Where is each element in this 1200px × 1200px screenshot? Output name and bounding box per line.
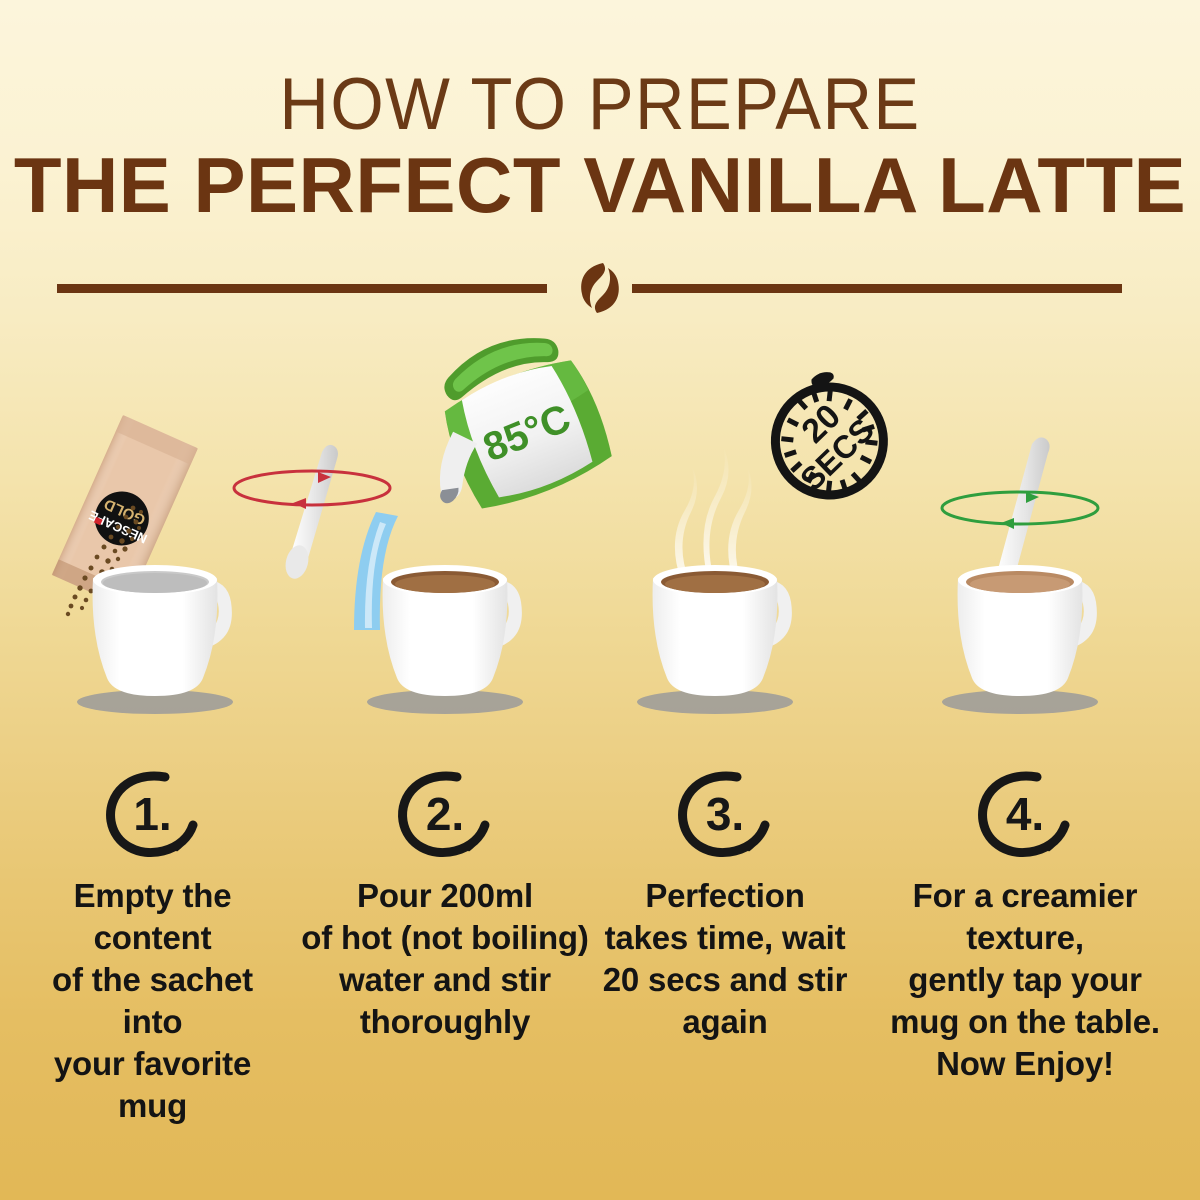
step-3: 20 SECS bbox=[585, 0, 865, 1200]
mug-with-coffee bbox=[653, 565, 792, 696]
mug-with-creamy-coffee bbox=[958, 565, 1097, 696]
step-4-number: 4. bbox=[860, 787, 1190, 841]
step-3-number: 3. bbox=[585, 787, 865, 841]
step-2: 85°C bbox=[300, 0, 590, 1200]
step-4-caption: For a creamier texture, gently tap your … bbox=[860, 875, 1190, 1085]
step-3-number-badge: 3. bbox=[585, 765, 865, 860]
step-1-caption: Empty the content of the sachet into you… bbox=[5, 875, 300, 1127]
steam bbox=[675, 446, 752, 580]
step-4-illustration bbox=[860, 380, 1190, 750]
step-1-illustration: NESCAFE GOLD bbox=[5, 380, 300, 750]
step-1-number: 1. bbox=[5, 787, 300, 841]
step-2-caption: Pour 200ml of hot (not boiling) water an… bbox=[300, 875, 590, 1043]
step-3-caption: Perfection takes time, wait 20 secs and … bbox=[585, 875, 865, 1043]
step-2-number: 2. bbox=[300, 787, 590, 841]
mug-with-coffee bbox=[383, 565, 522, 696]
step-1-number-badge: 1. bbox=[5, 765, 300, 860]
step-4: 4. For a creamier texture, gently tap yo… bbox=[860, 0, 1190, 1200]
step-3-illustration: 20 SECS bbox=[585, 380, 865, 750]
step-2-illustration: 85°C bbox=[300, 380, 590, 750]
step-2-number-badge: 2. bbox=[300, 765, 590, 860]
infographic-poster: HOW TO PREPARE THE PERFECT VANILLA LATTE bbox=[0, 0, 1200, 1200]
step-4-number-badge: 4. bbox=[860, 765, 1190, 860]
mug-empty bbox=[93, 565, 232, 696]
steps-container: NESCAFE GOLD bbox=[0, 0, 1200, 1200]
step-1: NESCAFE GOLD bbox=[5, 0, 300, 1200]
